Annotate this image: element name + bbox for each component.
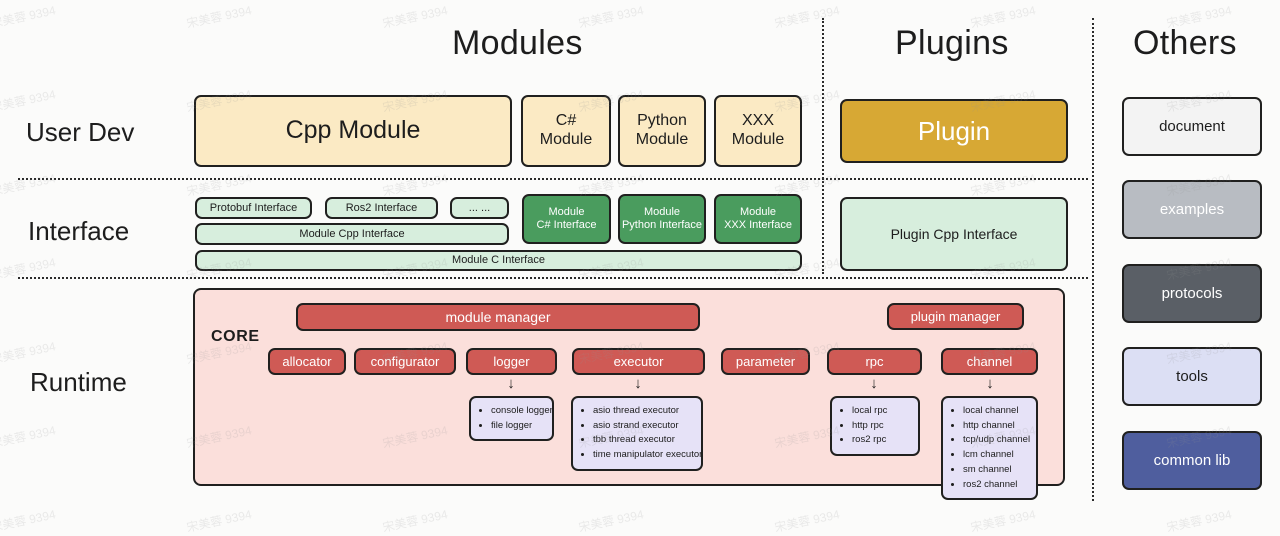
box-plugin-cpp-interface[interactable]: Plugin Cpp Interface [840,197,1068,271]
detail-executor: asio thread executorasio strand executor… [571,396,703,471]
list-item: ros2 channel [963,478,1028,493]
divider-modules-plugins [822,18,824,274]
detail-logger: console loggerfile logger [469,396,554,441]
list-item: tcp/udp channel [963,433,1028,448]
watermark-text: 宋美蓉 9394 [185,1,253,31]
box-cpp-module[interactable]: Cpp Module [194,95,512,167]
arrow-down-icon-executor: ↓ [631,376,645,396]
list-item: http rpc [852,419,910,434]
list-item: console logger [491,404,544,419]
box-parameter[interactable]: parameter [721,348,810,375]
box-examples[interactable]: examples [1122,180,1262,239]
list-item: local channel [963,404,1028,419]
row-label-user-dev: User Dev [26,117,134,148]
box-logger[interactable]: logger [466,348,557,375]
list-item: local rpc [852,404,910,419]
watermark-text: 宋美蓉 9394 [577,505,645,535]
detail-rpc: local rpchttp rpcros2 rpc [830,396,920,456]
watermark-text: 宋美蓉 9394 [0,169,57,199]
executor-item-list: asio thread executorasio strand executor… [579,404,693,463]
watermark-text: 宋美蓉 9394 [381,169,449,199]
watermark-text: 宋美蓉 9394 [0,253,57,283]
detail-channel: local channelhttp channeltcp/udp channel… [941,396,1038,500]
arrow-down-icon-logger: ↓ [504,376,518,396]
box-channel[interactable]: channel [941,348,1038,375]
watermark-text: 宋美蓉 9394 [0,337,57,367]
box-tools[interactable]: tools [1122,347,1262,406]
watermark-text: 宋美蓉 9394 [969,505,1037,535]
watermark-text: 宋美蓉 9394 [185,169,253,199]
box-module-c-interface[interactable]: Module C Interface [195,250,802,271]
core-label: CORE [211,328,260,346]
box-protocols[interactable]: protocols [1122,264,1262,323]
box-plugin[interactable]: Plugin [840,99,1068,163]
box-protobuf-interface[interactable]: Protobuf Interface [195,197,312,219]
logger-item-list: console loggerfile logger [477,404,544,433]
architecture-diagram: Modules Plugins Others User Dev Interfac… [0,0,1280,519]
watermark-text: 宋美蓉 9394 [0,505,57,535]
box-ellipsis-interface[interactable]: ... ... [450,197,509,219]
divider-interface-runtime [18,277,1088,279]
box-xxx-module[interactable]: XXXModule [714,95,802,167]
watermark-text: 宋美蓉 9394 [0,1,57,31]
list-item: time manipulator executor [593,448,693,463]
box-common-lib[interactable]: common lib [1122,431,1262,490]
box-allocator[interactable]: allocator [268,348,346,375]
watermark-text: 宋美蓉 9394 [0,85,57,115]
list-item: asio strand executor [593,419,693,434]
box-module-csharp-interface[interactable]: ModuleC# Interface [522,194,611,244]
box-ros2-interface[interactable]: Ros2 Interface [325,197,438,219]
box-rpc[interactable]: rpc [827,348,922,375]
list-item: sm channel [963,463,1028,478]
watermark-text: 宋美蓉 9394 [185,505,253,535]
list-item: asio thread executor [593,404,693,419]
arrow-down-icon-rpc: ↓ [867,376,881,396]
list-item: http channel [963,419,1028,434]
box-executor[interactable]: executor [572,348,705,375]
box-plugin-manager[interactable]: plugin manager [887,303,1024,330]
box-document[interactable]: document [1122,97,1262,156]
row-label-interface: Interface [28,216,129,247]
watermark-text: 宋美蓉 9394 [381,505,449,535]
column-title-others: Others [1133,24,1237,63]
list-item: file logger [491,419,544,434]
list-item: tbb thread executor [593,433,693,448]
box-csharp-module[interactable]: C#Module [521,95,611,167]
watermark-text: 宋美蓉 9394 [381,1,449,31]
divider-plugins-others [1092,18,1094,501]
watermark-text: 宋美蓉 9394 [773,1,841,31]
rpc-item-list: local rpchttp rpcros2 rpc [838,404,910,448]
arrow-down-icon-channel: ↓ [983,376,997,396]
box-module-manager[interactable]: module manager [296,303,700,331]
box-module-xxx-interface[interactable]: ModuleXXX Interface [714,194,802,244]
column-title-plugins: Plugins [895,24,1009,63]
box-python-module[interactable]: PythonModule [618,95,706,167]
channel-item-list: local channelhttp channeltcp/udp channel… [949,404,1028,492]
box-module-python-interface[interactable]: ModulePython Interface [618,194,706,244]
watermark-text: 宋美蓉 9394 [577,1,645,31]
watermark-text: 宋美蓉 9394 [0,421,57,451]
column-title-modules: Modules [452,24,583,63]
list-item: lcm channel [963,448,1028,463]
box-configurator[interactable]: configurator [354,348,456,375]
divider-userdev-interface [18,178,1088,180]
list-item: ros2 rpc [852,433,910,448]
watermark-text: 宋美蓉 9394 [969,169,1037,199]
box-module-cpp-interface[interactable]: Module Cpp Interface [195,223,509,245]
watermark-text: 宋美蓉 9394 [773,505,841,535]
watermark-text: 宋美蓉 9394 [1165,505,1233,535]
row-label-runtime: Runtime [30,367,127,398]
